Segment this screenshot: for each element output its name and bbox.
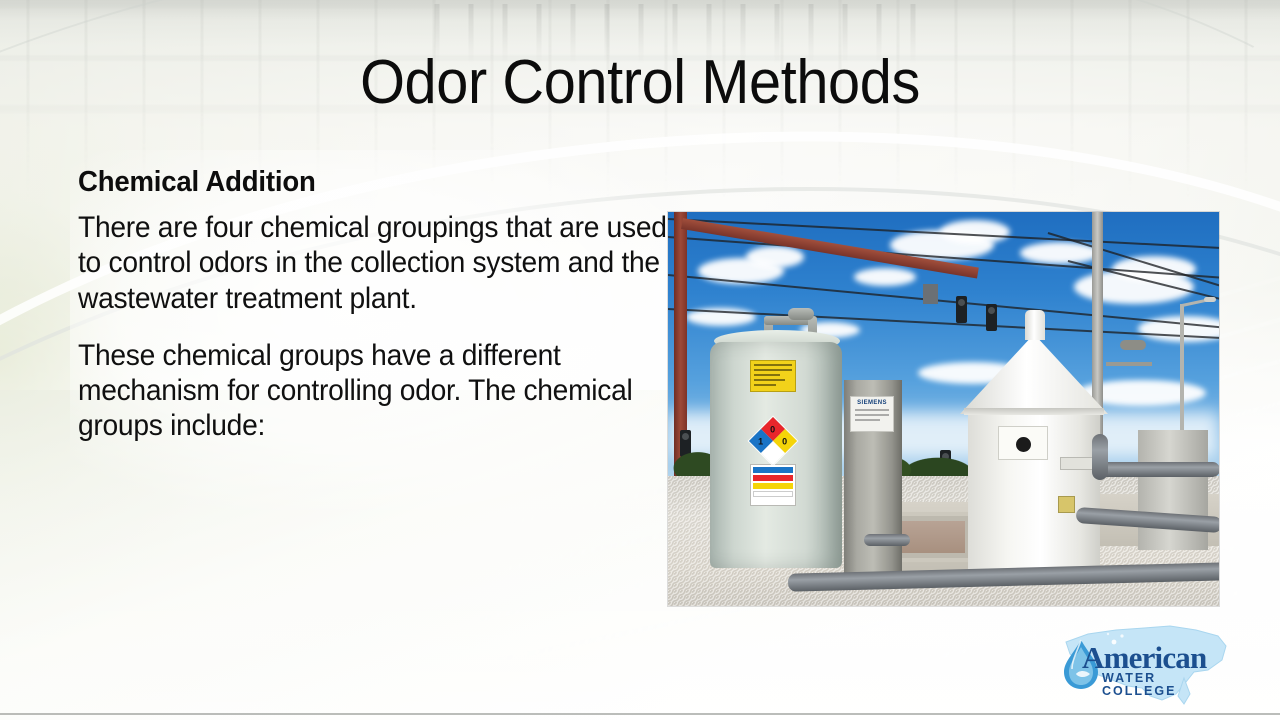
logo-subtitle: WATER COLLEGE	[1102, 672, 1234, 697]
cloud	[854, 268, 916, 286]
odor-control-vessel-stack	[1025, 310, 1045, 340]
nfpa-health-value: 1	[758, 436, 763, 446]
vessel-nameplate	[1060, 457, 1096, 470]
page-title: Odor Control Methods	[45, 52, 1235, 114]
odor-control-equipment-photo: 0 1 0 SIEMENS	[668, 212, 1219, 606]
slide-bottom-rule	[0, 713, 1280, 715]
vessel-access-hatch	[998, 426, 1048, 460]
process-pipe	[1098, 462, 1219, 477]
transformer	[1120, 340, 1146, 350]
vessel-roof-flange	[964, 408, 1104, 415]
utility-pole-crossarm	[1106, 362, 1152, 366]
nfpa-reactivity-value: 0	[783, 436, 788, 446]
traffic-signal-head	[956, 296, 967, 323]
siemens-brand-text: SIEMENS	[857, 400, 887, 406]
traffic-signal-head	[986, 304, 997, 331]
body-paragraph-1: There are four chemical groupings that a…	[78, 210, 684, 315]
tank-fitting	[788, 308, 814, 320]
section-heading: Chemical Addition	[78, 166, 658, 199]
logo-wordmark: American	[1082, 642, 1206, 673]
cloud	[746, 246, 804, 268]
drain-pipe	[864, 534, 910, 546]
american-water-college-logo[interactable]: American WATER COLLEGE	[1058, 616, 1234, 712]
signal-backplate	[923, 284, 938, 304]
hmis-chemical-label	[750, 464, 796, 506]
process-pipe-riser	[1092, 434, 1108, 480]
siemens-cabinet-label: SIEMENS	[850, 396, 894, 432]
body-paragraph-2: These chemical groups have a different m…	[78, 338, 684, 443]
auxiliary-equipment-cabinet	[1138, 430, 1208, 550]
body-text-column: Chemical Addition There are four chemica…	[78, 166, 688, 443]
slide-canvas: Odor Control Methods Chemical Addition T…	[0, 0, 1280, 720]
nfpa-flammability-value: 0	[770, 424, 775, 434]
vessel-junction-box	[1058, 496, 1075, 513]
street-light-head	[1204, 297, 1216, 302]
warning-label-yellow	[750, 360, 796, 392]
